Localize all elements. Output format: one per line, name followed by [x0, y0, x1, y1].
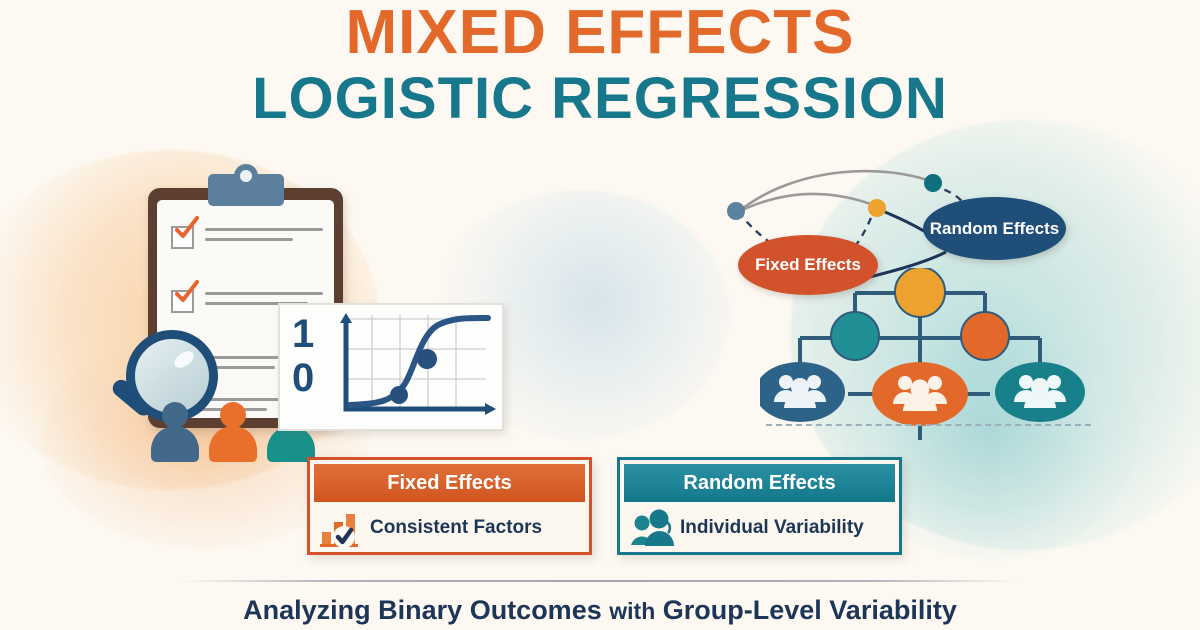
checklist-text-lines [205, 228, 323, 248]
steel-node-dot [727, 202, 745, 220]
connector-arc [738, 171, 938, 212]
tree-baseline-dashed [766, 424, 1091, 426]
chart-y-label-top: 1 [292, 314, 314, 354]
fixed-effects-card-header: Fixed Effects [314, 464, 585, 502]
person-figure [208, 402, 258, 460]
tree-branch-circle [961, 312, 1009, 360]
y-axis-arrow [340, 313, 352, 323]
infographic-canvas: MIXED EFFECTS LOGISTIC REGRESSION [0, 0, 1200, 630]
data-point [390, 386, 408, 404]
check-icon [173, 215, 199, 241]
fixed-effects-card-subtitle: Consistent Factors [370, 517, 542, 539]
tree-group-node [872, 362, 968, 426]
random-effects-card-header: Random Effects [624, 464, 895, 502]
bar-chart-check-icon [318, 508, 370, 548]
teal-node-dot [924, 174, 942, 192]
random-effects-card-body: Individual Variability [624, 506, 895, 550]
tree-group-node [760, 362, 845, 422]
data-point [417, 349, 437, 369]
magnifier-glint [171, 348, 196, 371]
fixed-effects-card-body: Consistent Factors [314, 506, 585, 550]
tree-root-circle [895, 268, 945, 317]
footer-divider [180, 580, 1020, 582]
footer-caption: Analyzing Binary Outcomes with Group-Lev… [0, 595, 1200, 626]
title-secondary: LOGISTIC REGRESSION [0, 70, 1200, 128]
fixed-effects-card[interactable]: Fixed Effects Consistent Factors [307, 457, 592, 555]
people-pair-icon [628, 508, 680, 548]
person-figure [150, 402, 200, 460]
random-effects-card[interactable]: Random Effects Individual Variability [617, 457, 902, 555]
check-icon [173, 279, 199, 305]
clipboard-clip-ring [234, 164, 258, 188]
title-primary: MIXED EFFECTS [0, 2, 1200, 64]
chart-y-label-bottom: 0 [292, 358, 314, 398]
x-axis-arrow [485, 403, 496, 415]
hierarchy-tree [760, 268, 1100, 448]
caption-part-1: Analyzing Binary Outcomes [243, 595, 602, 625]
random-effects-card-subtitle: Individual Variability [680, 517, 864, 539]
caption-part-2: Group-Level Variability [663, 595, 957, 625]
random-effects-pill: Random Effects [923, 197, 1066, 260]
checklist-row [171, 222, 323, 262]
tree-branch-circle [831, 312, 879, 360]
caption-connector: with [609, 598, 655, 624]
title-block: MIXED EFFECTS LOGISTIC REGRESSION [0, 2, 1200, 128]
amber-node-dot [868, 199, 886, 217]
tree-group-node [995, 362, 1085, 422]
